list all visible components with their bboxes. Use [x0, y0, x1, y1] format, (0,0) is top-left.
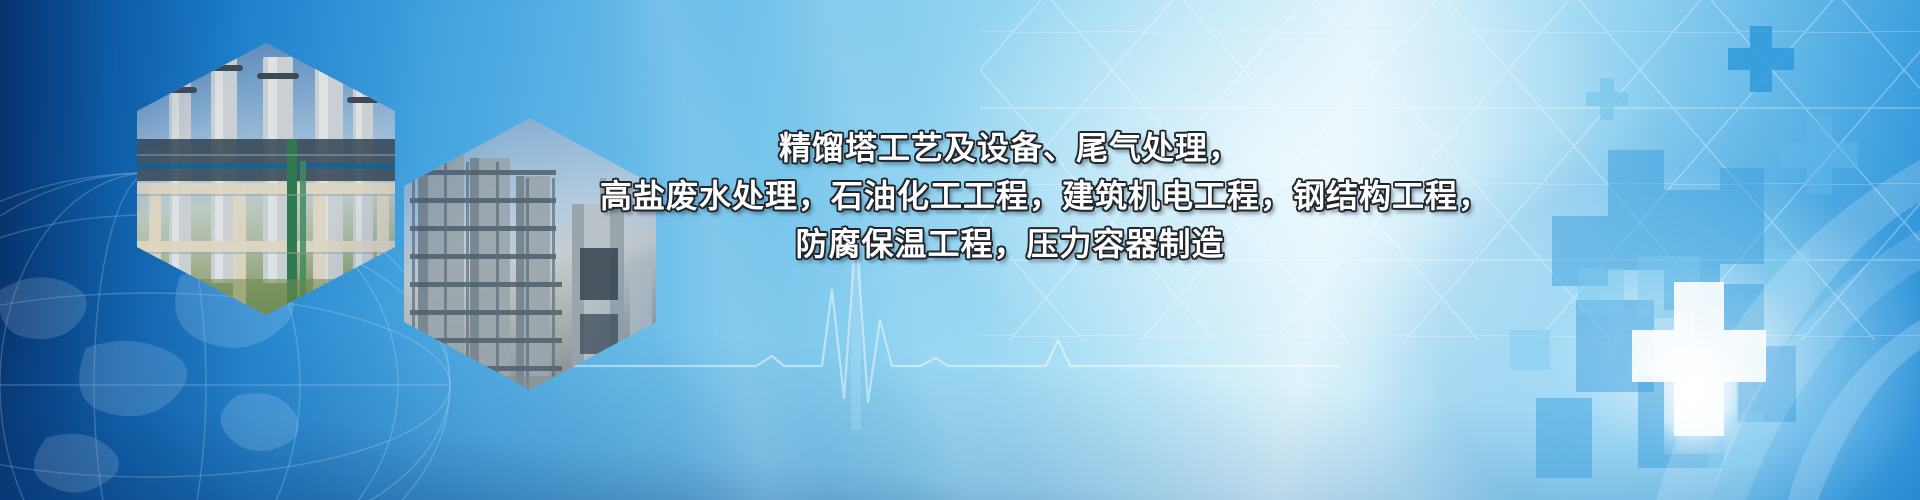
light-swoosh-icon — [1560, 150, 1920, 500]
headline-line-2: 高盐废水处理，石油化工工程，建筑机电工程，钢结构工程， — [600, 172, 1420, 220]
headline-line-1: 精馏塔工艺及设备、尾气处理， — [600, 124, 1420, 172]
promo-banner: 精馏塔工艺及设备、尾气处理， 高盐废水处理，石油化工工程，建筑机电工程，钢结构工… — [0, 0, 1920, 500]
photo-distillation-towers — [137, 43, 395, 315]
headline-line-3: 防腐保温工程，压力容器制造 — [600, 220, 1420, 268]
headline-block: 精馏塔工艺及设备、尾气处理， 高盐废水处理，石油化工工程，建筑机电工程，钢结构工… — [600, 124, 1420, 268]
photo-vignette — [137, 43, 395, 315]
pixel-cross-mosaic-icon — [1450, 0, 1920, 500]
